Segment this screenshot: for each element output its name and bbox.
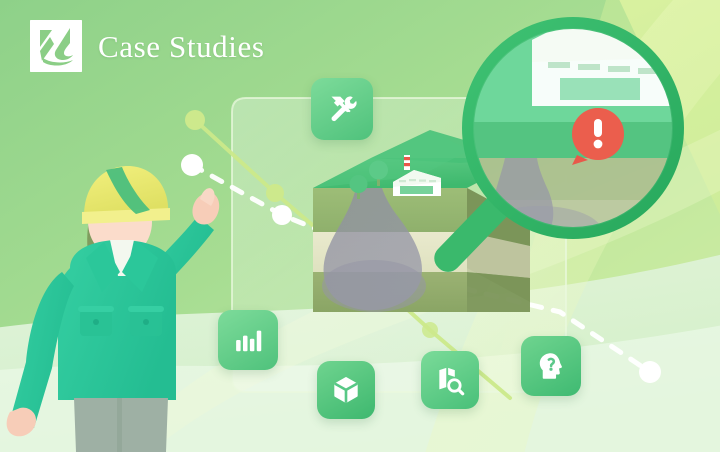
page-header: Case Studies bbox=[30, 20, 265, 72]
map-search-icon bbox=[434, 364, 466, 396]
page-title: Case Studies bbox=[98, 31, 265, 62]
cube-icon bbox=[331, 375, 361, 405]
smokestack bbox=[404, 155, 410, 170]
illustration-canvas: Case Studies bbox=[0, 0, 720, 452]
head-question-icon bbox=[535, 350, 567, 382]
tools-icon-tile[interactable] bbox=[311, 78, 373, 140]
cube-icon-tile[interactable] bbox=[317, 361, 375, 419]
ks-logo[interactable] bbox=[30, 20, 82, 72]
bar-chart-icon bbox=[233, 325, 263, 355]
head-question-icon-tile[interactable] bbox=[521, 336, 581, 396]
map-search-icon-tile[interactable] bbox=[421, 351, 479, 409]
tools-icon bbox=[325, 92, 359, 126]
bar-chart-icon-tile[interactable] bbox=[218, 310, 278, 370]
